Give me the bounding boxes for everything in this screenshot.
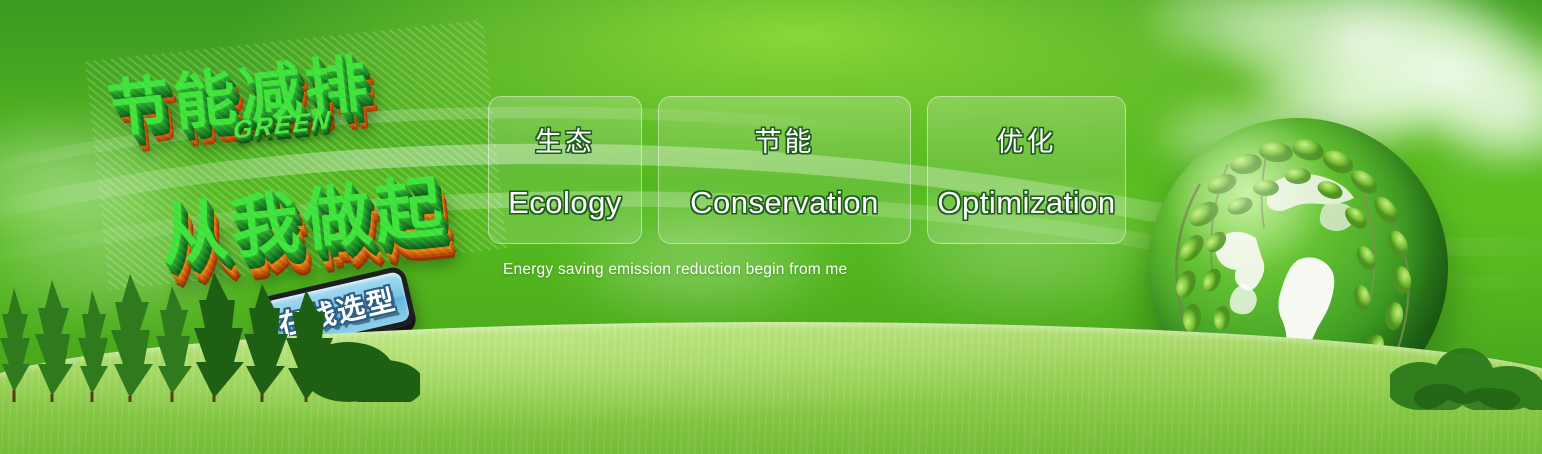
feature-card-en-label: Ecology [508, 185, 622, 221]
feature-card-list: 生态 Ecology 节能 Conservation 优化 Optimizati… [488, 96, 1126, 244]
hero-3d-title: 节能减排 GREEN 从我做起 [85, 20, 507, 291]
shrub-bushes [1390, 330, 1542, 410]
feature-card-en-label: Conservation [690, 185, 879, 221]
feature-card-optimization[interactable]: 优化 Optimization [927, 96, 1126, 244]
feature-card-conservation[interactable]: 节能 Conservation [658, 96, 911, 244]
feature-card-cn-label: 生态 [535, 120, 595, 159]
eco-hero-banner: 节能减排 GREEN 从我做起 在线选型 生态 Ecology 节能 Conse… [0, 0, 1542, 454]
feature-card-ecology[interactable]: 生态 Ecology [488, 96, 642, 244]
feature-card-cn-label: 优化 [997, 120, 1057, 159]
feature-card-en-label: Optimization [937, 185, 1115, 221]
hero-tagline: Energy saving emission reduction begin f… [503, 261, 847, 279]
feature-card-cn-label: 节能 [755, 120, 815, 159]
pine-tree-line-icon [0, 272, 420, 402]
